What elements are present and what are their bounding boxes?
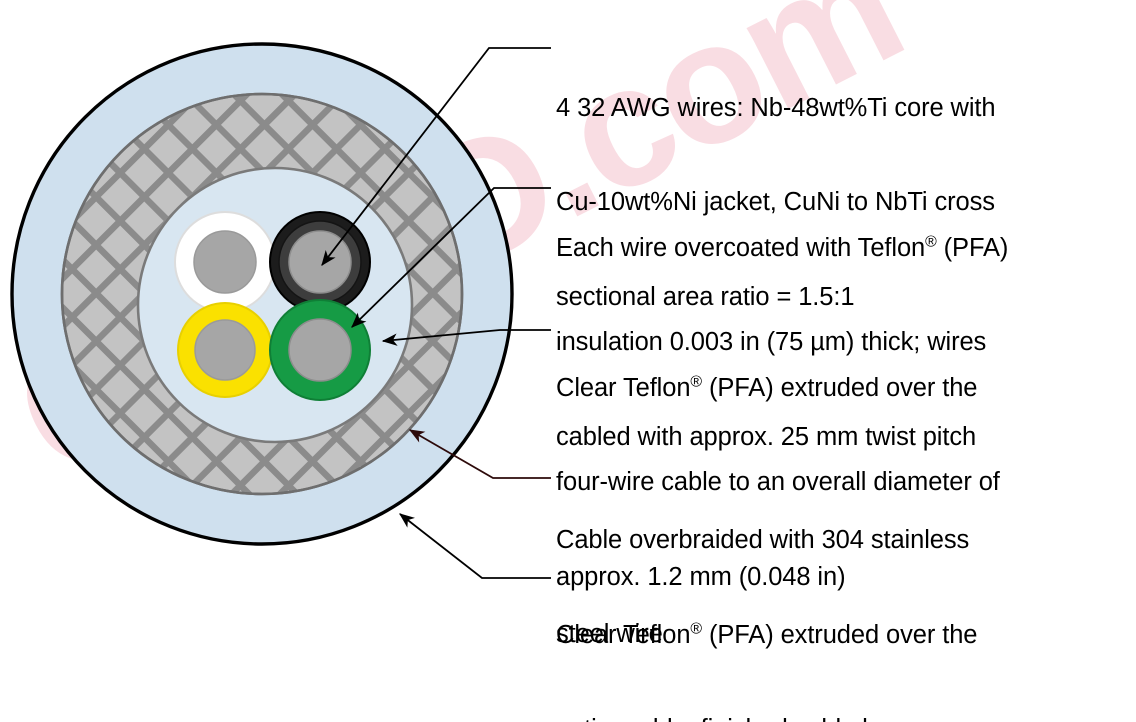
- black-wire: [270, 212, 370, 312]
- callout-braid-line-1: Cable overbraided with 304 stainless: [556, 525, 1131, 556]
- callout-inner-teflon-line-1: Clear Teflon® (PFA) extruded over the: [556, 373, 1131, 404]
- white-wire: [175, 212, 275, 312]
- diagram-canvas: CAD2D.com: [0, 0, 1136, 722]
- green-wire: [270, 300, 370, 400]
- callout-wire-insulation-line-1: Each wire overcoated with Teflon® (PFA): [556, 233, 1131, 264]
- green-wire-core: [289, 319, 351, 381]
- leader-line-outer-teflon: [400, 514, 551, 578]
- yellow-wire-core: [195, 320, 255, 380]
- callout-outer-teflon-line-1: Clear Teflon® (PFA) extruded over the: [556, 620, 1131, 651]
- white-wire-core: [194, 231, 256, 293]
- callout-outer-teflon-line-2: entire cable; finished cable has an: [556, 714, 1131, 722]
- yellow-wire: [178, 303, 272, 397]
- callout-outer-teflon: Clear Teflon® (PFA) extruded over the en…: [556, 557, 1131, 722]
- callout-wires-line-1: 4 32 AWG wires: Nb-48wt%Ti core with: [556, 93, 1126, 124]
- inner-teflon-fill: [138, 168, 412, 442]
